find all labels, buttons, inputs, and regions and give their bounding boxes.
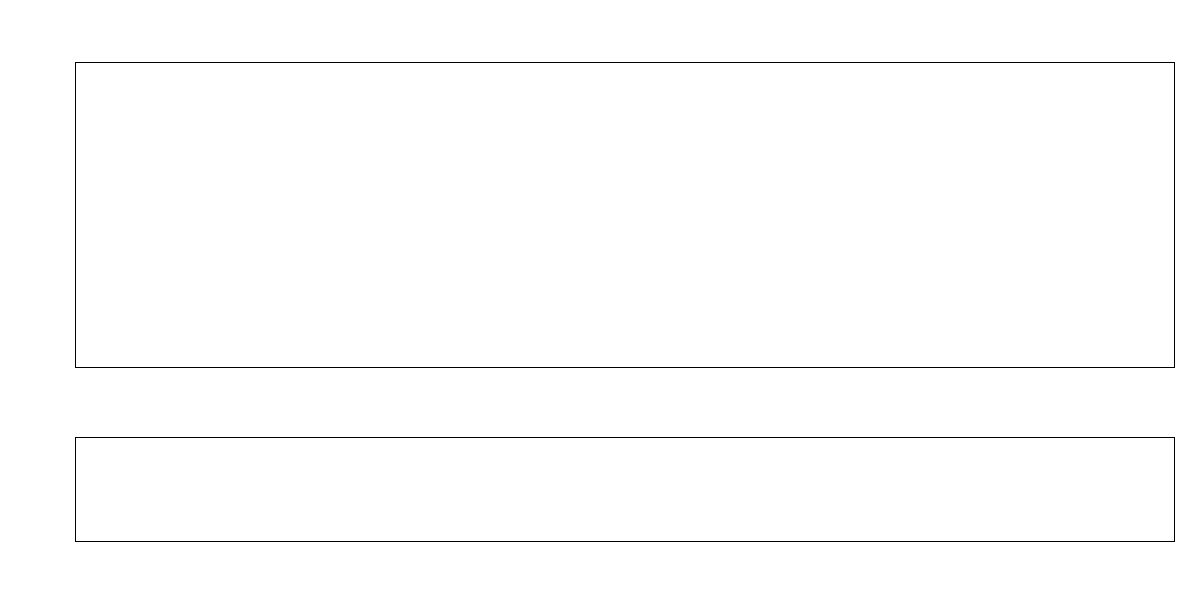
price-plot-area [75,62,1175,368]
buy-sell-powers-chart [75,437,1175,542]
power-plot-area [75,437,1175,542]
price-wave-chart [75,62,1175,368]
price-wave-bands [76,63,1174,367]
